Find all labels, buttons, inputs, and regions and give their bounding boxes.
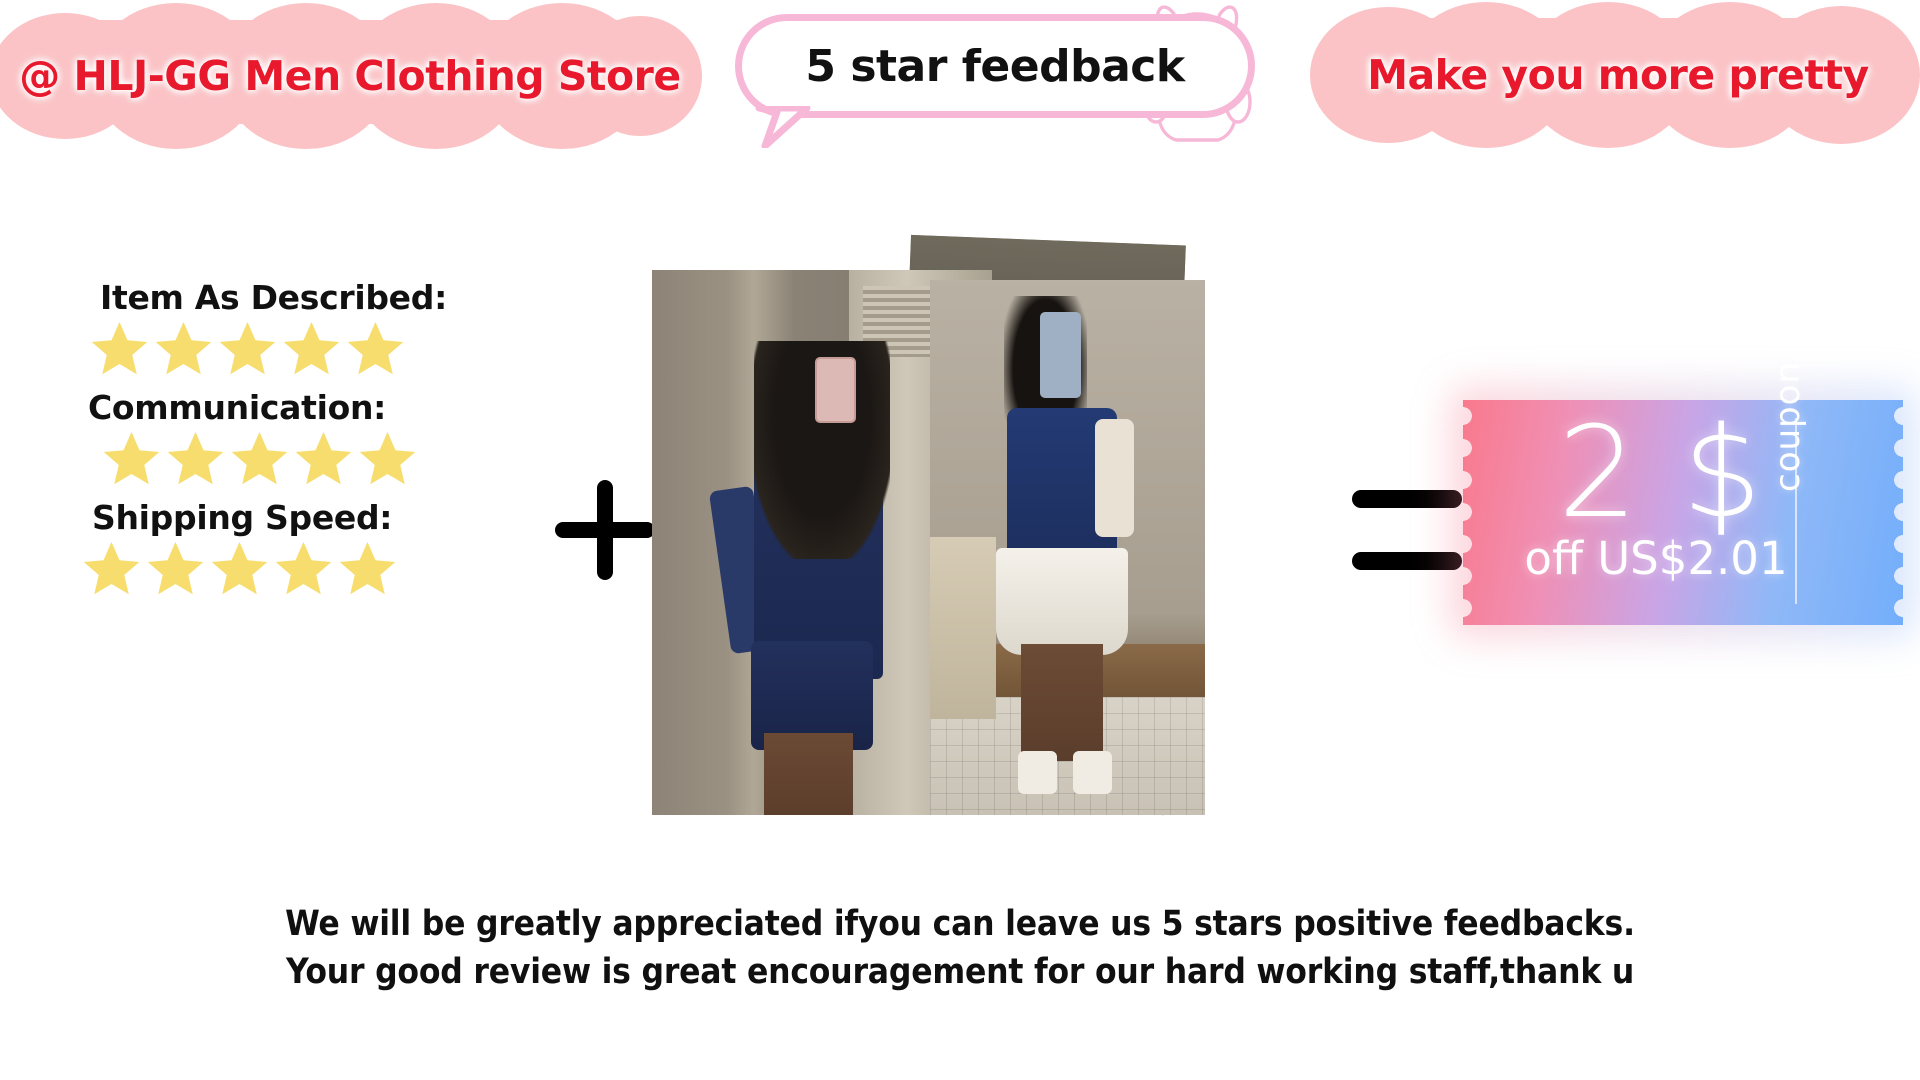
star-icon — [164, 428, 227, 488]
coupon-subtitle: off US$2.01 — [1491, 532, 1821, 585]
store-name-banner: @ HLJ-GG Men Clothing Store — [0, 2, 700, 150]
rating-row-shipping-speed: Shipping Speed: — [60, 498, 540, 598]
store-name-text: @ HLJ-GG Men Clothing Store — [19, 52, 680, 100]
footer-message: We will be greatly appreciated ifyou can… — [0, 900, 1920, 997]
rating-label: Shipping Speed: — [92, 498, 540, 537]
star-icon — [280, 318, 343, 378]
discount-coupon[interactable]: 2 $ off US$2.01 coupon — [1463, 400, 1903, 625]
star-icon — [344, 318, 407, 378]
star-icon — [208, 538, 271, 598]
promo-banner-canvas: @ HLJ-GG Men Clothing Store — [0, 0, 1920, 1080]
star-icon — [356, 428, 419, 488]
star-icon — [100, 428, 163, 488]
equals-operator-icon — [1352, 490, 1462, 572]
star-icon — [144, 538, 207, 598]
speech-bubble-tail — [755, 106, 825, 148]
ratings-section: Item As Described: Communication: Shippi… — [60, 278, 540, 608]
star-rating-communication — [100, 428, 540, 488]
rating-label: Item As Described: — [100, 278, 540, 317]
photo-scene — [930, 280, 1205, 815]
star-icon — [272, 538, 335, 598]
rating-row-item-as-described: Item As Described: — [60, 278, 540, 378]
star-rating-shipping-speed — [80, 538, 540, 598]
star-icon — [80, 538, 143, 598]
star-icon — [152, 318, 215, 378]
tagline-text: Make you more pretty — [1367, 51, 1869, 99]
speech-bubble-text: 5 star feedback — [805, 41, 1184, 92]
coupon-amount: 2 $ — [1511, 410, 1811, 536]
tagline-banner: Make you more pretty — [1316, 0, 1920, 150]
star-icon — [292, 428, 355, 488]
star-rating-item-as-described — [88, 318, 540, 378]
star-icon — [336, 538, 399, 598]
footer-line-2: Your good review is great encouragement … — [0, 948, 1920, 996]
rating-label: Communication: — [88, 388, 540, 427]
customer-photo — [930, 280, 1205, 815]
star-icon — [216, 318, 279, 378]
star-icon — [88, 318, 151, 378]
coupon-side-label: coupon — [1768, 452, 1920, 492]
customer-photo-collage — [640, 245, 1360, 825]
footer-line-1: We will be greatly appreciated ifyou can… — [0, 900, 1920, 948]
speech-bubble-body: 5 star feedback — [735, 14, 1255, 118]
star-icon — [228, 428, 291, 488]
rating-row-communication: Communication: — [60, 388, 540, 488]
feedback-speech-bubble: 5 star feedback — [735, 6, 1265, 146]
